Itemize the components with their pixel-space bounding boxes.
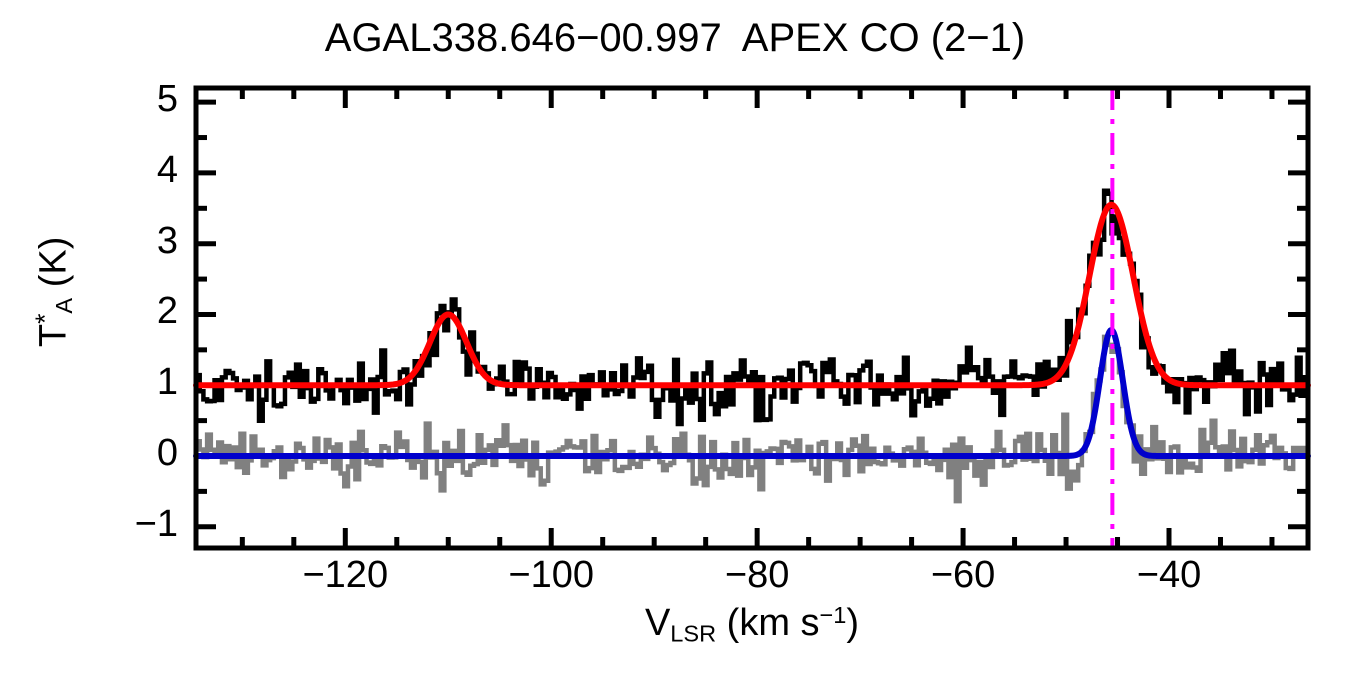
y-tick-label: 2 bbox=[108, 290, 178, 333]
y-tick-label: 5 bbox=[108, 78, 178, 121]
x-tick-label: −120 bbox=[285, 554, 405, 597]
spectrum-figure: AGAL338.646−00.997 APEX CO (2−1) T*A (K)… bbox=[0, 0, 1350, 675]
y-tick-label: 3 bbox=[108, 220, 178, 263]
x-tick-label: −40 bbox=[1109, 554, 1229, 597]
y-tick-label: 1 bbox=[108, 361, 178, 404]
y-tick-label: 4 bbox=[108, 149, 178, 192]
x-tick-label: −80 bbox=[697, 554, 817, 597]
y-tick-label: 0 bbox=[108, 432, 178, 475]
spectrum-traces bbox=[196, 191, 1308, 501]
x-tick-label: −60 bbox=[903, 554, 1023, 597]
x-tick-label: −100 bbox=[491, 554, 611, 597]
y-tick-label: −1 bbox=[108, 503, 178, 546]
